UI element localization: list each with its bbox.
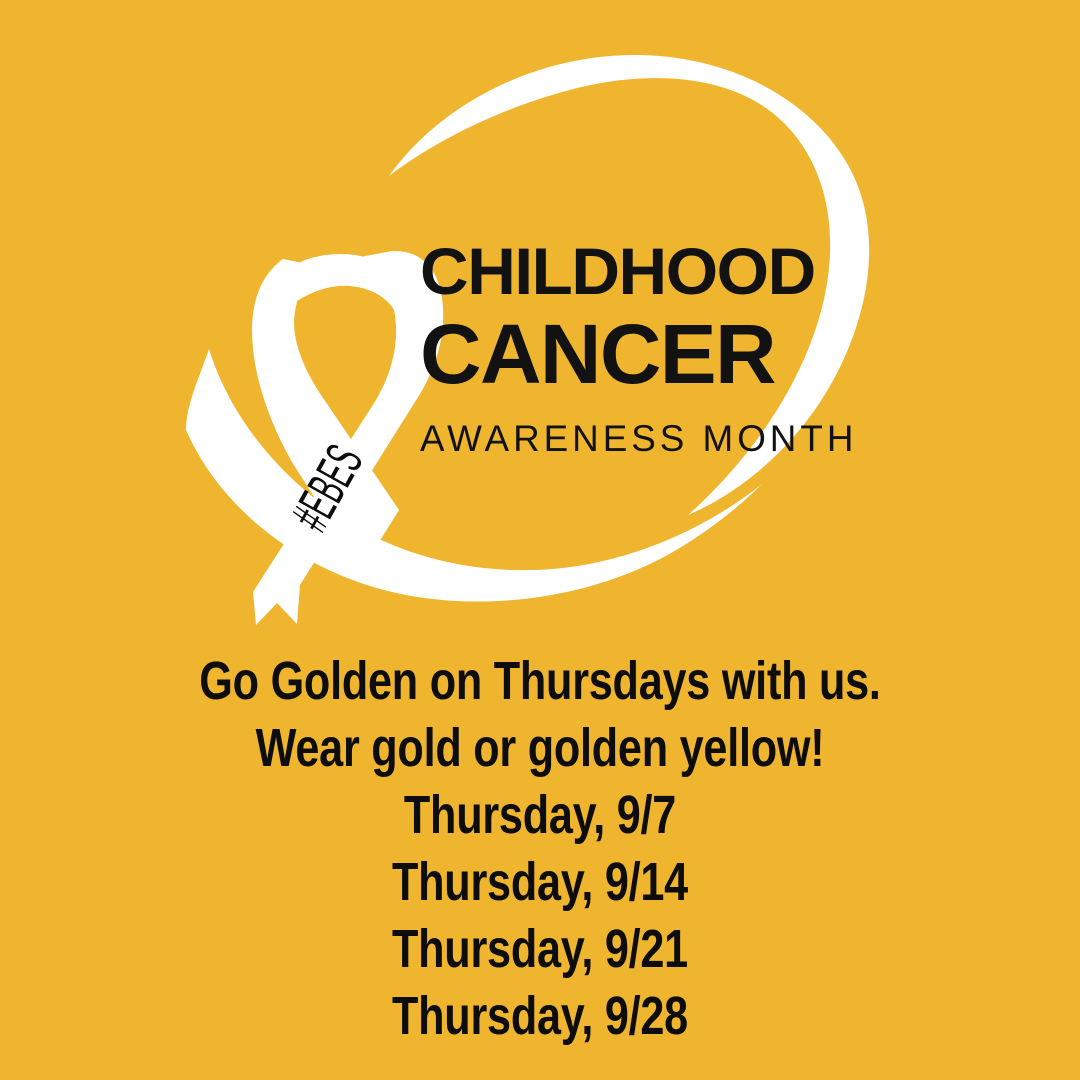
body-copy: Go Golden on Thursdays with us. Wear gol… [0, 648, 1080, 1050]
poster-canvas: CHILDHOOD CANCER AWARENESS MONTH #EBES G… [0, 0, 1080, 1080]
body-line-2: Wear gold or golden yellow! [108, 715, 972, 782]
headline-awareness-month: AWARENESS MONTH [420, 420, 798, 457]
body-line-5: Thursday, 9/21 [108, 916, 972, 983]
body-line-3: Thursday, 9/7 [108, 782, 972, 849]
body-line-6: Thursday, 9/28 [108, 983, 972, 1050]
awareness-emblem: CHILDHOOD CANCER AWARENESS MONTH #EBES [0, 0, 1080, 660]
headline-cancer: CANCER [420, 312, 806, 396]
headline-childhood: CHILDHOOD [420, 238, 808, 304]
body-line-1: Go Golden on Thursdays with us. [108, 648, 972, 715]
body-line-4: Thursday, 9/14 [108, 849, 972, 916]
